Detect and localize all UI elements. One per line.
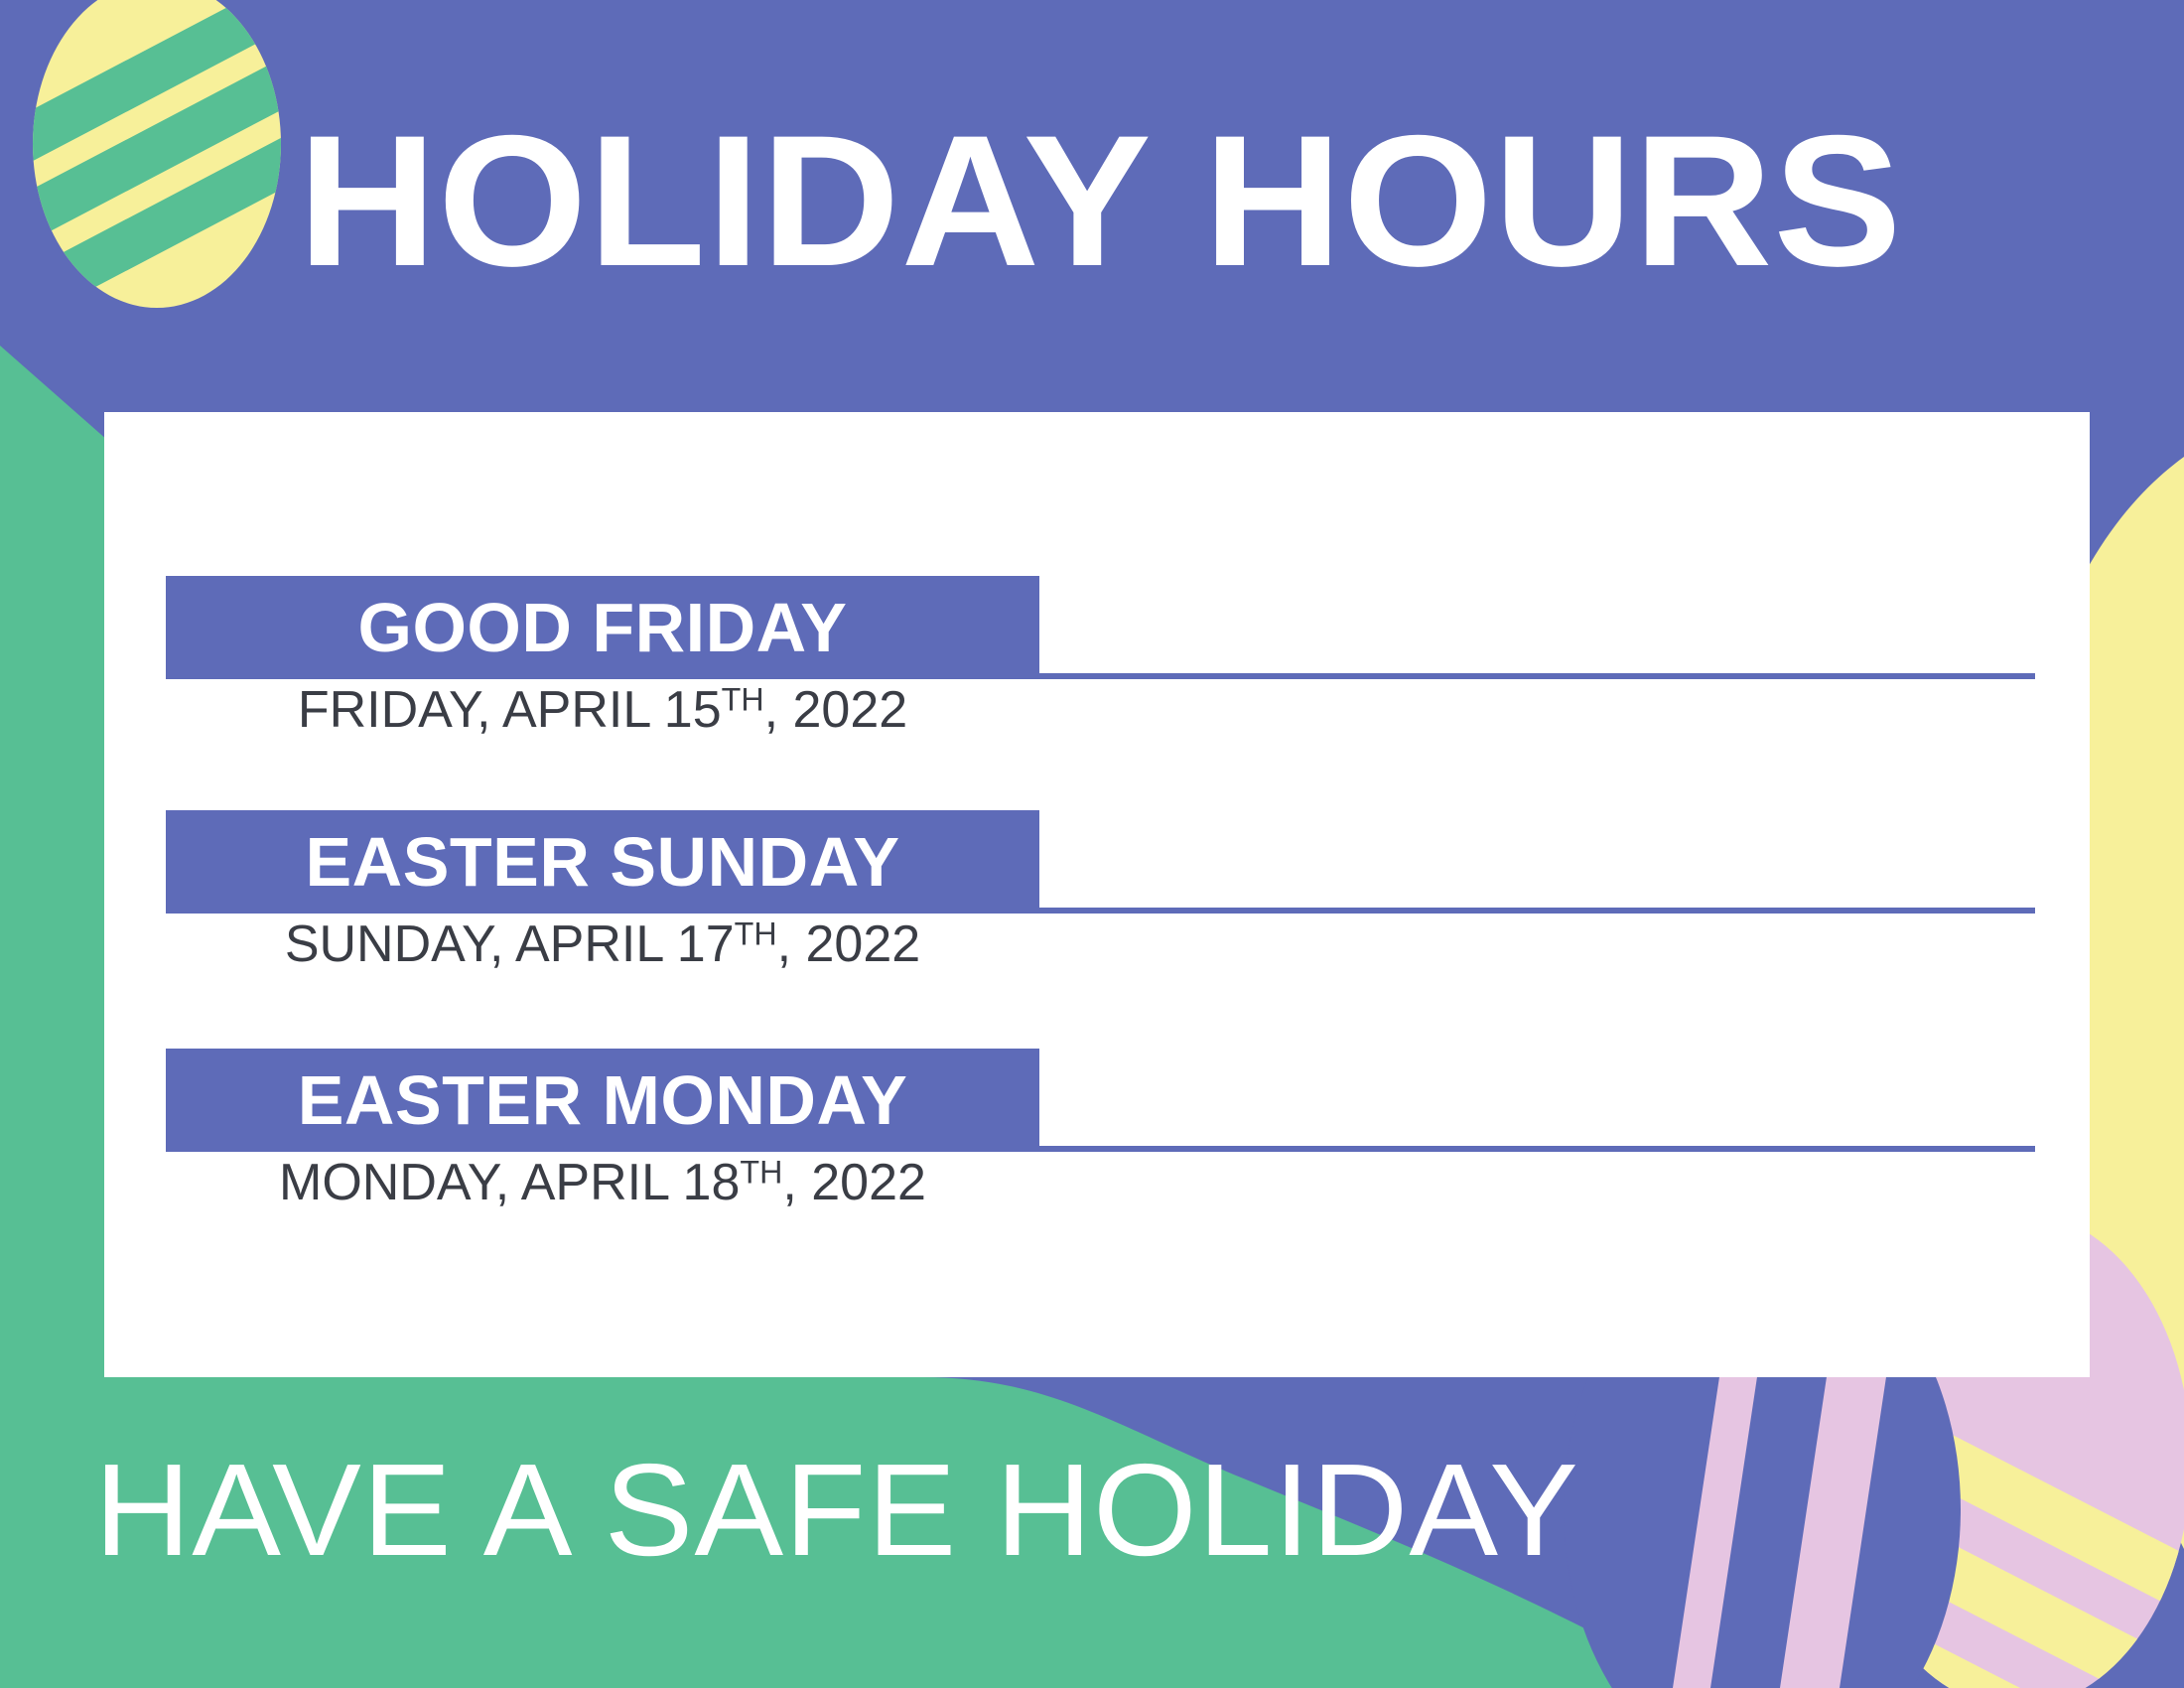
holiday-date-prefix: FRIDAY, APRIL 15 (298, 681, 722, 739)
hours-write-in-line[interactable] (1039, 1146, 2035, 1152)
holiday-date: MONDAY, APRIL 18TH, 2022 (166, 1156, 1039, 1210)
holiday-date-ordinal: TH (735, 915, 777, 951)
holiday-date-suffix: , 2022 (777, 915, 921, 973)
holiday-bar-wrap: EASTER SUNDAY (104, 810, 2090, 914)
holiday-date-ordinal: TH (740, 1154, 782, 1190)
holiday-row: EASTER SUNDAY SUNDAY, APRIL 17TH, 2022 (104, 810, 2090, 914)
page-title: HOLIDAY HOURS (298, 107, 2036, 294)
holiday-name: GOOD FRIDAY (358, 593, 848, 662)
holiday-date: SUNDAY, APRIL 17TH, 2022 (166, 917, 1039, 972)
holiday-hours-poster: HOLIDAY HOURS GOOD FRIDAY FRIDAY, APRIL … (0, 0, 2184, 1688)
holiday-date: FRIDAY, APRIL 15TH, 2022 (166, 683, 1039, 738)
holiday-date-prefix: SUNDAY, APRIL 17 (285, 915, 735, 973)
holiday-name-bar: GOOD FRIDAY (166, 576, 1039, 679)
holiday-name: EASTER MONDAY (298, 1065, 908, 1135)
holiday-name-bar: EASTER SUNDAY (166, 810, 1039, 914)
holiday-date-prefix: MONDAY, APRIL 18 (279, 1154, 740, 1211)
hours-write-in-line[interactable] (1039, 908, 2035, 914)
holiday-name-bar: EASTER MONDAY (166, 1049, 1039, 1152)
holiday-date-suffix: , 2022 (782, 1154, 926, 1211)
holiday-rows-container: GOOD FRIDAY FRIDAY, APRIL 15TH, 2022 EAS… (104, 412, 2090, 1377)
holiday-row: GOOD FRIDAY FRIDAY, APRIL 15TH, 2022 (104, 576, 2090, 679)
hours-write-in-line[interactable] (1039, 673, 2035, 679)
holiday-date-suffix: , 2022 (764, 681, 908, 739)
holiday-row: EASTER MONDAY MONDAY, APRIL 18TH, 2022 (104, 1049, 2090, 1152)
holiday-bar-wrap: GOOD FRIDAY (104, 576, 2090, 679)
holiday-name: EASTER SUNDAY (305, 827, 899, 897)
holiday-date-ordinal: TH (722, 681, 764, 717)
footer-message: HAVE A SAFE HOLIDAY (94, 1445, 1579, 1576)
holiday-bar-wrap: EASTER MONDAY (104, 1049, 2090, 1152)
